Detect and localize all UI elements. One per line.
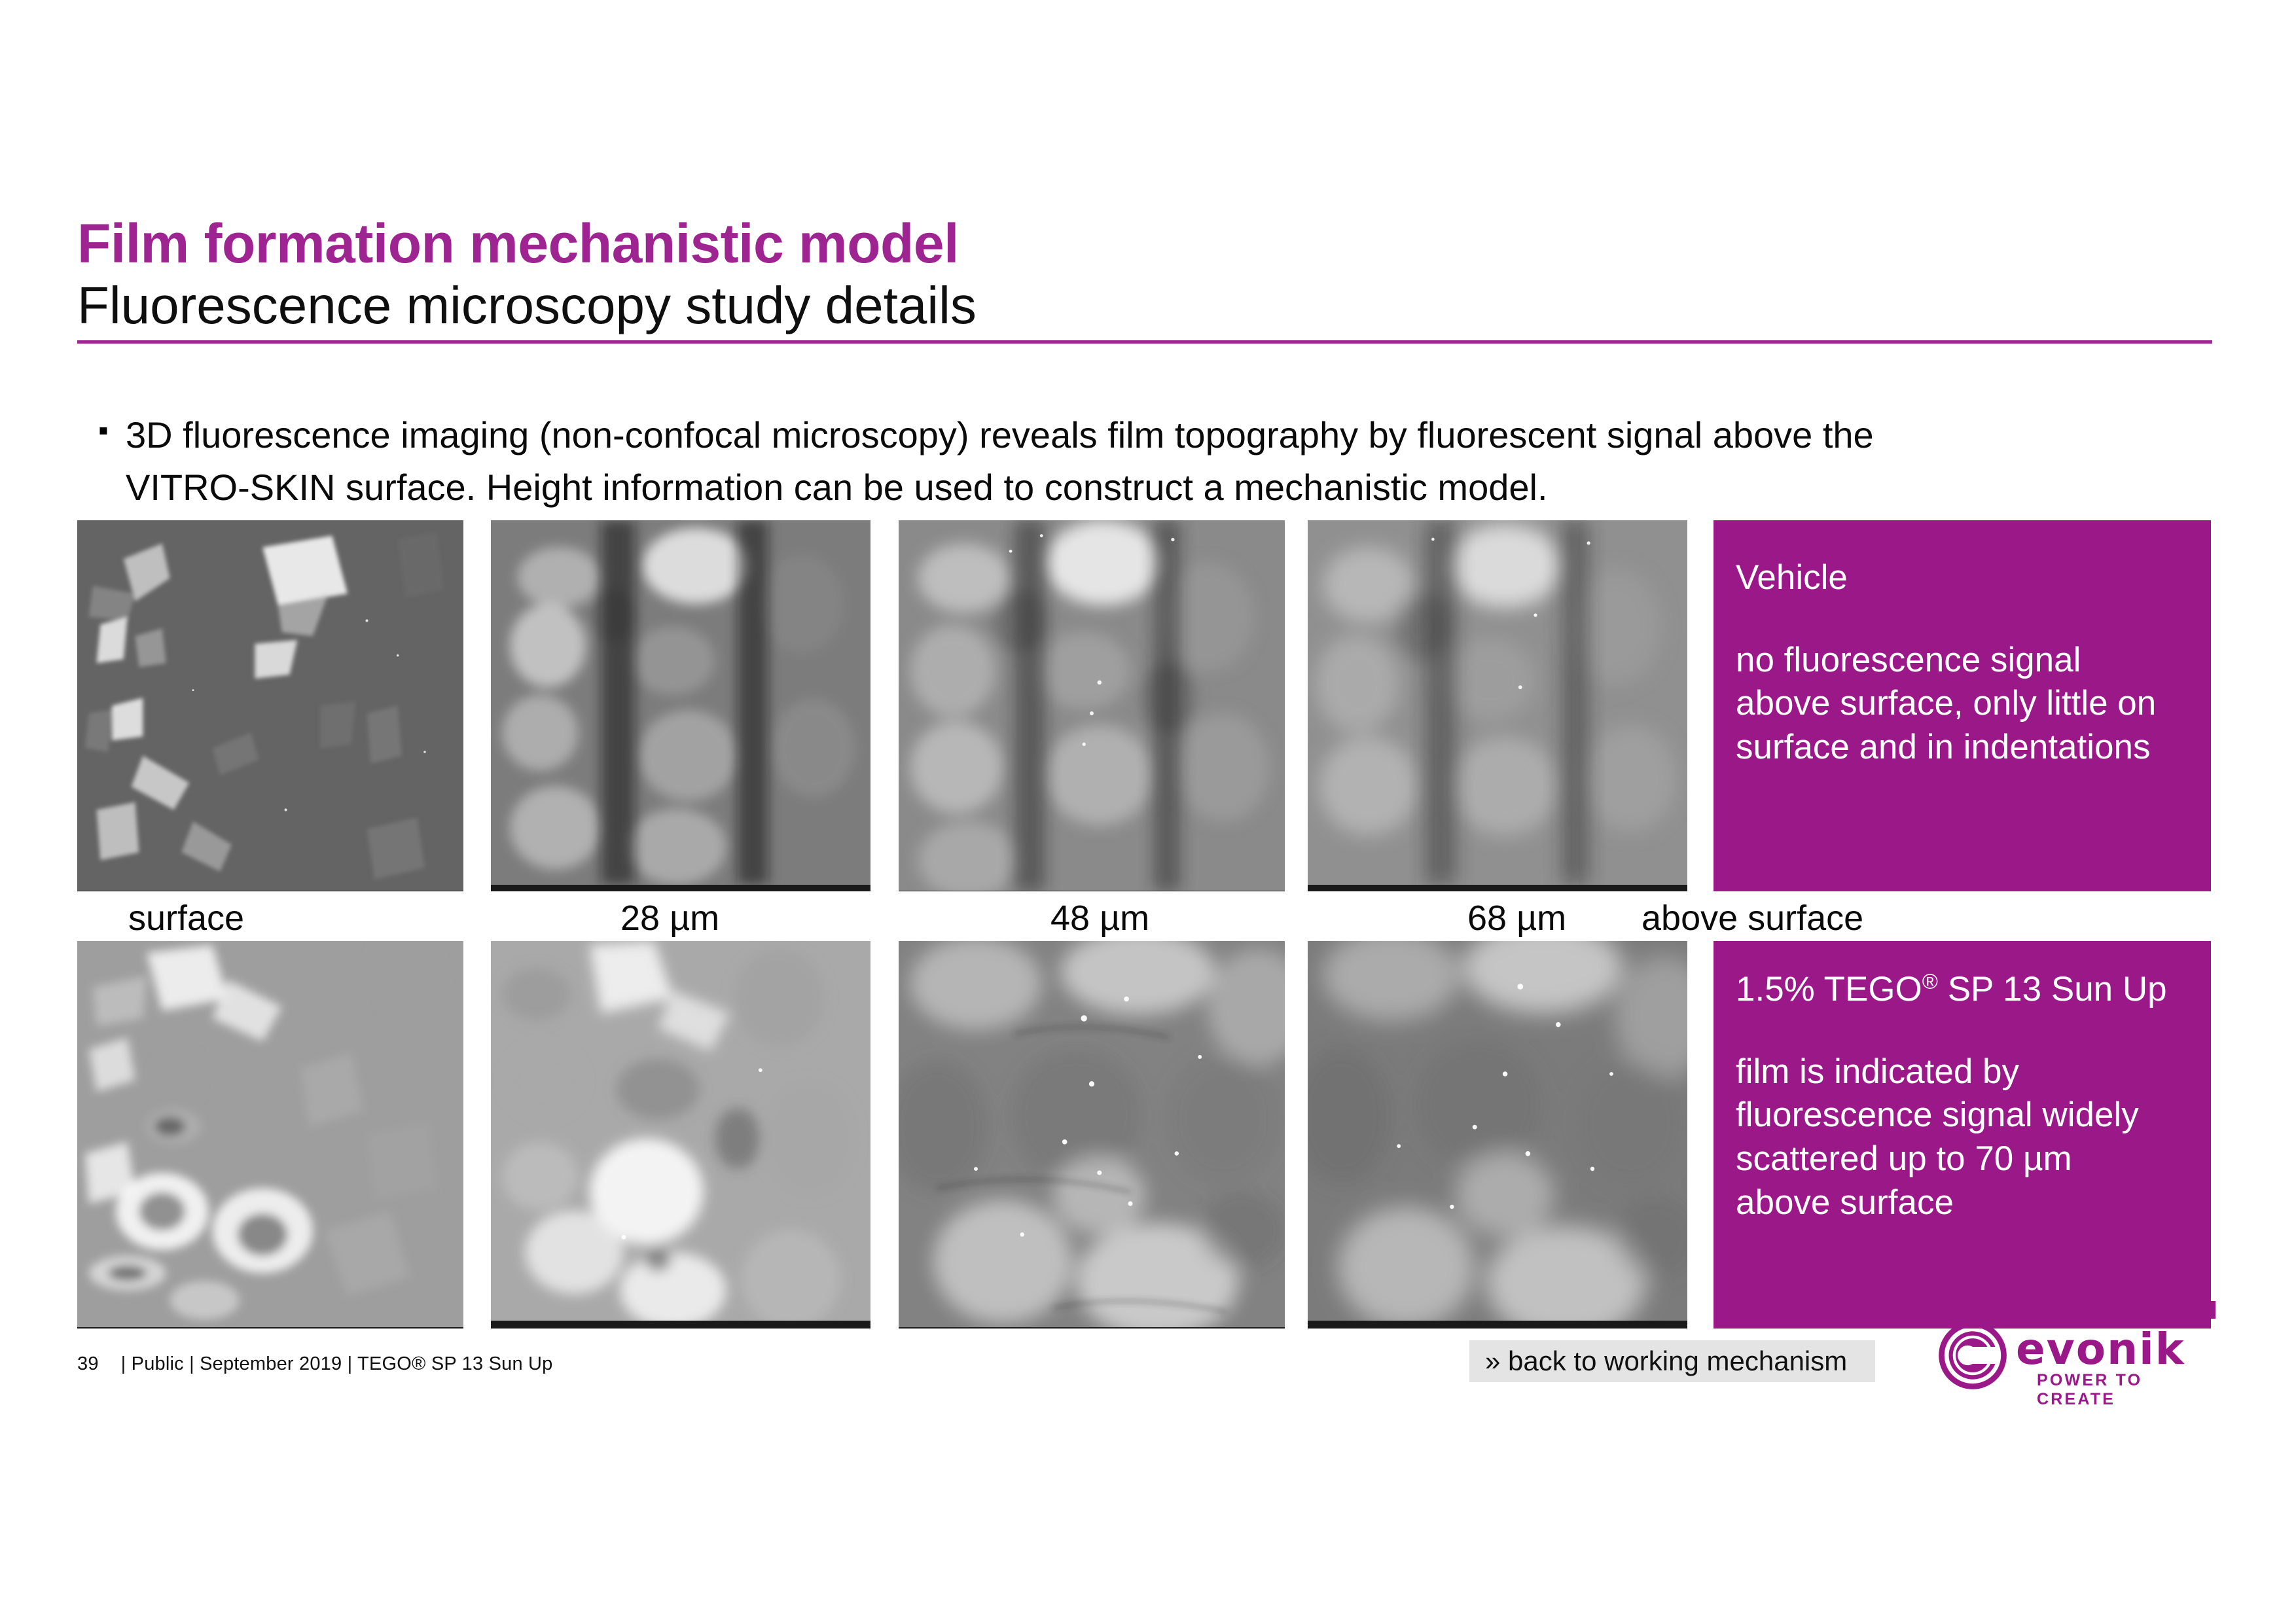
micrograph-image <box>77 941 463 1327</box>
bullet-text-wrapper: 3D fluorescence imaging (non-confocal mi… <box>126 409 1874 513</box>
info-panel-body: film is indicated by fluorescence signal… <box>1736 1050 2189 1225</box>
evonik-e-mark-icon <box>1937 1320 2008 1391</box>
info-panel-title: 1.5% TEGO® SP 13 Sun Up <box>1736 969 2189 1011</box>
micrograph-image <box>899 941 1285 1327</box>
scale-label-48um: 48 µm <box>1050 898 1149 938</box>
info-body-line: above surface <box>1736 1181 2189 1225</box>
footer-meta-text: | Public | September 2019 | TEGO® SP 13 … <box>121 1353 553 1374</box>
info-body-line: scattered up to 70 µm <box>1736 1137 2189 1181</box>
logo-tagline: POWER TO CREATE <box>2037 1371 2225 1409</box>
micrograph-tego-48um[interactable] <box>899 941 1285 1329</box>
info-panel-title: Vehicle <box>1736 557 2189 599</box>
info-panel-vehicle: Vehicle no fluorescence signal above sur… <box>1713 520 2211 891</box>
bullet-text-line-1: 3D fluorescence imaging (non-confocal mi… <box>126 409 1874 461</box>
registered-trademark-icon: ® <box>1922 969 1938 993</box>
slide-header: Film formation mechanistic model Fluores… <box>77 216 2212 344</box>
page-number: 39 <box>77 1353 99 1374</box>
scale-label-68um: 68 µm <box>1467 898 1566 938</box>
micrograph-vehicle-28um[interactable] <box>491 520 870 891</box>
page-subtitle: Fluorescence microscopy study details <box>77 277 2212 334</box>
scale-label-28um: 28 µm <box>620 898 719 938</box>
header-divider <box>77 340 2212 344</box>
logo-top-bar <box>1937 1301 2215 1319</box>
info-body-line: fluorescence signal widely <box>1736 1094 2189 1137</box>
back-to-working-mechanism-button[interactable]: » back to working mechanism <box>1469 1340 1875 1382</box>
micrograph-image <box>77 520 463 891</box>
micrograph-image <box>899 520 1285 891</box>
list-item: ▪ 3D fluorescence imaging (non-confocal … <box>98 409 2140 513</box>
evonik-logo: evonik POWER TO CREATE <box>1937 1319 2225 1395</box>
micrograph-image <box>491 941 870 1321</box>
bullet-marker-icon: ▪ <box>98 409 126 451</box>
micrograph-vehicle-48um[interactable] <box>899 520 1285 891</box>
info-panel-tego: 1.5% TEGO® SP 13 Sun Up film is indicate… <box>1713 941 2211 1329</box>
scale-label-above-surface: above surface <box>1641 898 1863 938</box>
micrograph-image <box>1308 520 1687 885</box>
scale-label-surface: surface <box>128 898 244 938</box>
micrograph-image <box>491 520 870 885</box>
micrograph-tego-68um[interactable] <box>1308 941 1687 1329</box>
bullet-list: ▪ 3D fluorescence imaging (non-confocal … <box>98 409 2140 513</box>
micrograph-vehicle-surface[interactable] <box>77 520 463 891</box>
info-title-prefix: 1.5% TEGO <box>1736 970 1922 1008</box>
page-title: Film formation mechanistic model <box>77 216 2212 271</box>
info-body-line: above surface, only little on <box>1736 682 2189 726</box>
info-panel-body: no fluorescence signal above surface, on… <box>1736 639 2189 770</box>
micrograph-image <box>1308 941 1687 1321</box>
info-body-line: film is indicated by <box>1736 1050 2189 1094</box>
info-body-line: surface and in indentations <box>1736 726 2189 770</box>
bullet-text-line-2: VITRO-SKIN surface. Height information c… <box>126 461 1874 514</box>
info-body-line: no fluorescence signal <box>1736 639 2189 683</box>
logo-wordmark: evonik <box>2016 1324 2185 1374</box>
micrograph-vehicle-68um[interactable] <box>1308 520 1687 891</box>
micrograph-tego-surface[interactable] <box>77 941 463 1329</box>
info-title-suffix: SP 13 Sun Up <box>1938 970 2167 1008</box>
footer-metadata: 39| Public | September 2019 | TEGO® SP 1… <box>77 1353 553 1375</box>
micrograph-tego-28um[interactable] <box>491 941 870 1329</box>
